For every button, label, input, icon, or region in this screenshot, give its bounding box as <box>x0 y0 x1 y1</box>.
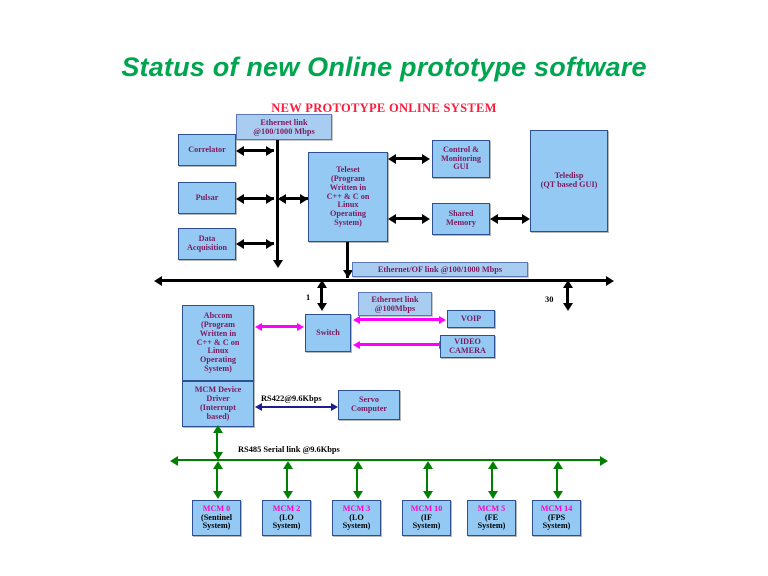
diagram-subtitle: NEW PROTOTYPE ONLINE SYSTEM <box>0 101 768 116</box>
node-videocam-line-1: CAMERA <box>449 347 486 356</box>
node-switch[interactable]: Switch <box>305 314 351 352</box>
link-teleset-cmgui-arrow-left <box>388 154 396 164</box>
label-ethernet-100-line-1: @100Mbps <box>375 304 415 313</box>
link-correlator-arrow-left <box>236 146 244 156</box>
node-cmgui-line-2: GUI <box>453 163 468 172</box>
rs485-bus-arrow-right <box>600 456 608 466</box>
link-pulsar-arrow-right <box>266 194 274 204</box>
node-mcm-10-sys-close: System) <box>413 522 441 531</box>
node-mcm-5[interactable]: MCM 5 (FE System) <box>467 500 516 536</box>
node-mcm-14-sys-close: System) <box>543 522 571 531</box>
mcm-drop-1-arrow-up <box>283 461 293 469</box>
label-count-one: 1 <box>306 293 310 302</box>
node-shared-memory-line-1: Memory <box>446 219 476 228</box>
bus-drop-1-arrow-down <box>317 303 327 311</box>
main-ethernet-bus-arrow-left <box>154 276 162 286</box>
node-video-camera[interactable]: VIDEO CAMERA <box>440 335 495 358</box>
link-abccom-switch-arrow-right <box>297 323 304 331</box>
node-teleset-line-6: System) <box>334 219 362 228</box>
mcm-drop-1 <box>286 467 288 493</box>
link-sharedmem-teledisp-arrow-right <box>522 214 530 224</box>
node-teleset[interactable]: Teleset (Program Written in C++ & C on L… <box>308 152 388 242</box>
label-ethernet-top-line-1: @100/1000 Mbps <box>253 127 314 136</box>
mcm-drop-2 <box>356 467 358 493</box>
mcm-drop-0-arrow-up <box>213 461 223 469</box>
node-shared-memory[interactable]: Shared Memory <box>432 203 490 235</box>
node-correlator[interactable]: Correlator <box>178 134 236 166</box>
link-mcmdd-rs485-arrow-down <box>213 452 223 460</box>
node-mcm-device-driver[interactable]: MCM Device Driver (Interrupt based) <box>182 381 254 427</box>
rs485-bus-arrow-left <box>170 456 178 466</box>
node-pulsar[interactable]: Pulsar <box>178 182 236 214</box>
node-data-acquisition-line-1: Acquisition <box>187 244 227 253</box>
node-servo-line-1: Computer <box>351 405 387 414</box>
node-voip[interactable]: VOIP <box>447 310 495 328</box>
link-dataacq-arrow-left <box>236 239 244 249</box>
bus-drop-30-arrow-down <box>563 303 573 311</box>
node-mcm-0[interactable]: MCM 0 (Sentinel System) <box>192 500 241 536</box>
bus-drop-30-arrow-up <box>563 280 573 288</box>
bus-drop-1-arrow-up <box>317 280 327 288</box>
node-data-acquisition[interactable]: Data Acquisition <box>178 228 236 260</box>
link-trunk-teleset-arrow-right <box>300 194 308 204</box>
link-mcmdd-servo-arrow-right <box>331 403 338 411</box>
mcm-drop-4 <box>491 467 493 493</box>
label-ethernet-100mbps: Ethernet link @100Mbps <box>358 292 432 316</box>
link-sharedmem-teledisp-arrow-left <box>490 214 498 224</box>
node-voip-line-0: VOIP <box>461 315 481 324</box>
diagram-canvas: Status of new Online prototype software … <box>0 0 768 576</box>
link-mcmdd-rs485-arrow-up <box>213 425 223 433</box>
mcm-drop-2-arrow-down <box>353 491 363 499</box>
link-correlator-arrow-right <box>266 146 274 156</box>
node-pulsar-line-0: Pulsar <box>196 194 219 203</box>
mcm-drop-1-arrow-down <box>283 491 293 499</box>
node-mcm-10[interactable]: MCM 10 (IF System) <box>402 500 451 536</box>
node-servo-computer[interactable]: Servo Computer <box>338 390 400 420</box>
label-rs422-text: RS422@9.6Kbps <box>261 394 322 403</box>
mcm-drop-5-arrow-up <box>553 461 563 469</box>
node-teledisp-line-1: (QT based GUI) <box>541 181 598 190</box>
link-switch-voip-arrow-left <box>353 316 360 324</box>
node-mcm-3[interactable]: MCM 3 (LO System) <box>332 500 381 536</box>
node-abccom-line-6: System) <box>204 365 232 374</box>
node-teledisp[interactable]: Teledisp (QT based GUI) <box>530 130 608 232</box>
link-mcmdd-rs485 <box>216 432 218 454</box>
label-rs485: RS485 Serial link @9.6Kbps <box>238 445 340 454</box>
label-count-thirty-text: 30 <box>545 295 553 304</box>
rs485-bus <box>178 459 602 461</box>
mcm-drop-5-arrow-down <box>553 491 563 499</box>
mcm-drop-2-arrow-up <box>353 461 363 469</box>
node-mcm-5-sys-close: System) <box>478 522 506 531</box>
link-mcmdd-servo <box>262 406 332 408</box>
mcm-drop-3-arrow-down <box>423 491 433 499</box>
label-rs422: RS422@9.6Kbps <box>261 394 322 403</box>
label-ethernet-of-bus: Ethernet/OF link @100/1000 Mbps <box>352 262 528 277</box>
link-trunk-teleset-arrow-left <box>278 194 286 204</box>
link-teleset-sharedmem-arrow-left <box>388 214 396 224</box>
node-mcm-3-sys-close: System) <box>343 522 371 531</box>
link-teleset-sharedmem-arrow-right <box>422 214 430 224</box>
main-ethernet-bus <box>162 279 608 282</box>
page-title: Status of new Online prototype software <box>0 52 768 83</box>
node-mcm-2-sys-close: System) <box>273 522 301 531</box>
mcm-drop-3 <box>426 467 428 493</box>
label-ethernet-of-bus-text: Ethernet/OF link @100/1000 Mbps <box>378 265 502 274</box>
label-ethernet-top-line-0: Ethernet link <box>260 118 307 127</box>
link-switch-videocam-arrow-left <box>353 341 360 349</box>
mcm-drop-4-arrow-up <box>488 461 498 469</box>
node-correlator-line-0: Correlator <box>188 146 226 155</box>
label-rs485-text: RS485 Serial link @9.6Kbps <box>238 445 340 454</box>
bus-drop-30 <box>566 285 569 305</box>
link-teleset-cmgui <box>396 157 424 160</box>
bus-drop-1 <box>320 285 323 305</box>
label-count-one-text: 1 <box>306 293 310 302</box>
label-ethernet-100-line-0: Ethernet link <box>371 295 418 304</box>
link-switch-voip-arrow-right <box>439 316 446 324</box>
mcm-drop-0 <box>216 467 218 493</box>
node-mcm-14[interactable]: MCM 14 (FPS System) <box>532 500 581 536</box>
link-abccom-switch <box>262 325 298 328</box>
main-ethernet-bus-arrow-right <box>606 276 614 286</box>
link-switch-videocamera <box>360 343 440 346</box>
node-control-monitoring-gui[interactable]: Control & Monitoring GUI <box>432 140 490 178</box>
node-switch-line-0: Switch <box>316 329 340 338</box>
link-mcmdd-servo-arrow-left <box>255 403 262 411</box>
mcm-drop-4-arrow-down <box>488 491 498 499</box>
label-ethernet-top: Ethernet link @100/1000 Mbps <box>236 114 332 140</box>
link-abccom-switch-arrow-left <box>255 323 262 331</box>
ethernet-trunk-arrow-down <box>273 260 283 268</box>
link-pulsar-arrow-left <box>236 194 244 204</box>
label-count-thirty: 30 <box>545 295 553 304</box>
link-teleset-mainbus-arrow-down <box>343 270 353 278</box>
link-teleset-cmgui-arrow-right <box>422 154 430 164</box>
node-mcm-2[interactable]: MCM 2 (LO System) <box>262 500 311 536</box>
node-abccom[interactable]: Abccom (Program Written in C++ & C on Li… <box>182 305 254 381</box>
link-dataacq-arrow-right <box>266 239 274 249</box>
mcm-drop-5 <box>556 467 558 493</box>
mcm-drop-3-arrow-up <box>423 461 433 469</box>
link-teleset-sharedmem <box>396 217 424 220</box>
link-switch-voip <box>360 318 440 321</box>
node-mcmdd-line-3: based) <box>207 413 230 422</box>
node-mcm-0-sys-close: System) <box>203 522 231 531</box>
mcm-drop-0-arrow-down <box>213 491 223 499</box>
